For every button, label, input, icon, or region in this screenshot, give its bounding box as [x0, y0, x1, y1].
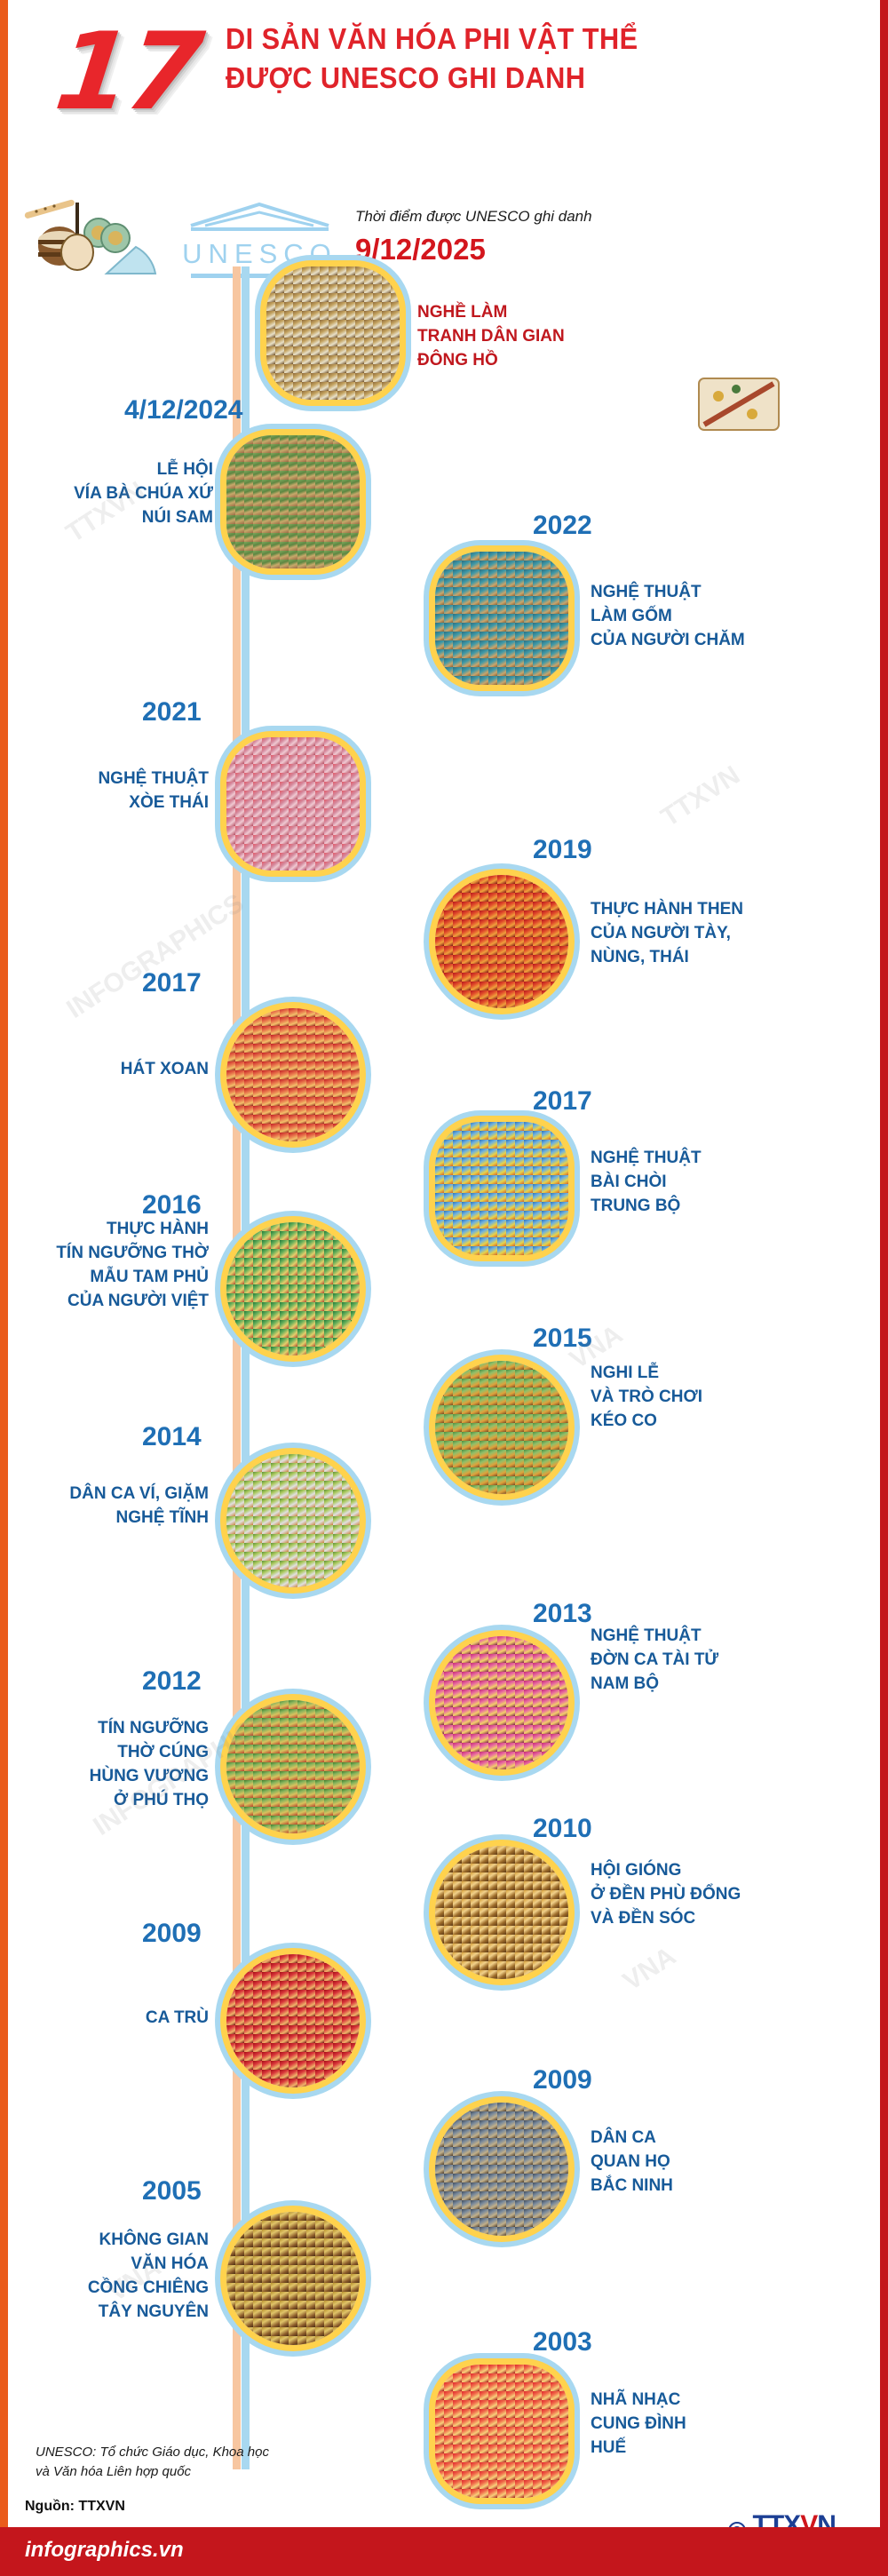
timeline-entry[interactable]: 2022 NGHỆ THUẬT LÀM GỐM CỦA NGƯỜI CHĂM	[0, 511, 888, 697]
entry-year: 4/12/2024	[124, 395, 242, 425]
entry-label: NGHỆ THUẬT XÒE THÁI	[0, 767, 209, 815]
heritage-count: 17	[49, 11, 205, 134]
entry-label: NGHỆ THUẬT LÀM GỐM CỦA NGƯỜI CHĂM	[591, 580, 848, 652]
entry-year: 2010	[533, 1814, 592, 1844]
unesco-footnote: UNESCO: Tổ chức Giáo dục, Khoa học và Vă…	[36, 2443, 462, 2482]
entry-label: TÍN NGƯỠNG THỜ CÚNG HÙNG VƯƠNG Ở PHÚ THỌ	[0, 1716, 209, 1812]
entry-label: DÂN CA VÍ, GIẶM NGHỆ TĨNH	[0, 1482, 209, 1530]
entry-label: THỰC HÀNH TÍN NGƯỠNG THỜ MẪU TAM PHỦ CỦA…	[0, 1217, 209, 1313]
entry-label: NHÃ NHẠC CUNG ĐÌNH HUẾ	[591, 2388, 848, 2460]
legend-caption: Thời điểm được UNESCO ghi danh	[355, 208, 592, 226]
flute-icon	[24, 199, 75, 219]
entry-photo	[226, 2212, 360, 2345]
entry-label: NGHỀ LÀM TRANH DÂN GIAN ĐÔNG HỒ	[417, 300, 684, 372]
unesco-wordmark: UNESCO	[182, 238, 337, 270]
entry-year: 2022	[533, 511, 592, 541]
entry-year: 2014	[142, 1422, 202, 1452]
entry-label: CA TRÙ	[0, 2006, 209, 2030]
entry-label: NGHI LỄ VÀ TRÒ CHƠI KÉO CO	[591, 1361, 848, 1433]
entry-year: 2005	[142, 2176, 202, 2206]
entry-photo	[266, 266, 400, 400]
unesco-temple-icon	[182, 203, 337, 238]
entry-label: KHÔNG GIAN VĂN HÓA CỒNG CHIÊNG TÂY NGUYÊ…	[0, 2228, 209, 2324]
entry-year: 2017	[142, 968, 202, 998]
entry-year: 2017	[533, 1086, 592, 1117]
entry-label: HÁT XOAN	[0, 1057, 209, 1081]
entry-photo	[226, 1700, 360, 1833]
page-title: DI SẢN VĂN HÓA PHI VẬT THỂ ĐƯỢC UNESCO G…	[226, 20, 865, 98]
entry-year: 2013	[533, 1599, 592, 1629]
entry-year: 2009	[533, 2065, 592, 2095]
entry-year: 2012	[142, 1666, 202, 1697]
entry-year: 2003	[533, 2327, 592, 2357]
header: 17 DI SẢN VĂN HÓA PHI VẬT THỂ ĐƯỢC UNESC…	[8, 0, 880, 191]
entry-photo	[226, 1454, 360, 1587]
bottom-red-bar: infographics.vn	[0, 2527, 888, 2576]
entry-label: THỰC HÀNH THEN CỦA NGƯỜI TÀY, NÙNG, THÁI	[591, 897, 857, 969]
instruments-illustration	[22, 197, 182, 277]
entry-year: 2016	[142, 1190, 202, 1220]
entry-photo	[435, 1122, 568, 1255]
entry-year: 2015	[533, 1324, 592, 1354]
title-line-1: DI SẢN VĂN HÓA PHI VẬT THỂ	[226, 20, 821, 59]
entry-year: 2021	[142, 697, 202, 727]
entry-year: 2019	[533, 835, 592, 865]
title-line-2: ĐƯỢC UNESCO GHI DANH	[226, 59, 821, 98]
source-note: Nguồn: TTXVN	[25, 2499, 125, 2515]
site-url: infographics.vn	[25, 2538, 184, 2563]
entry-year: 2009	[142, 1919, 202, 1949]
entry-photo	[435, 552, 568, 685]
entry-label: NGHỆ THUẬT BÀI CHÒI TRUNG BỘ	[591, 1146, 848, 1218]
infographic-page: 17 DI SẢN VĂN HÓA PHI VẬT THỂ ĐƯỢC UNESC…	[0, 0, 888, 2576]
legend-date: 9/12/2025	[355, 233, 486, 266]
timeline-entry[interactable]: 2003 NHÃ NHẠC CUNG ĐÌNH HUẾ	[0, 2327, 888, 2514]
